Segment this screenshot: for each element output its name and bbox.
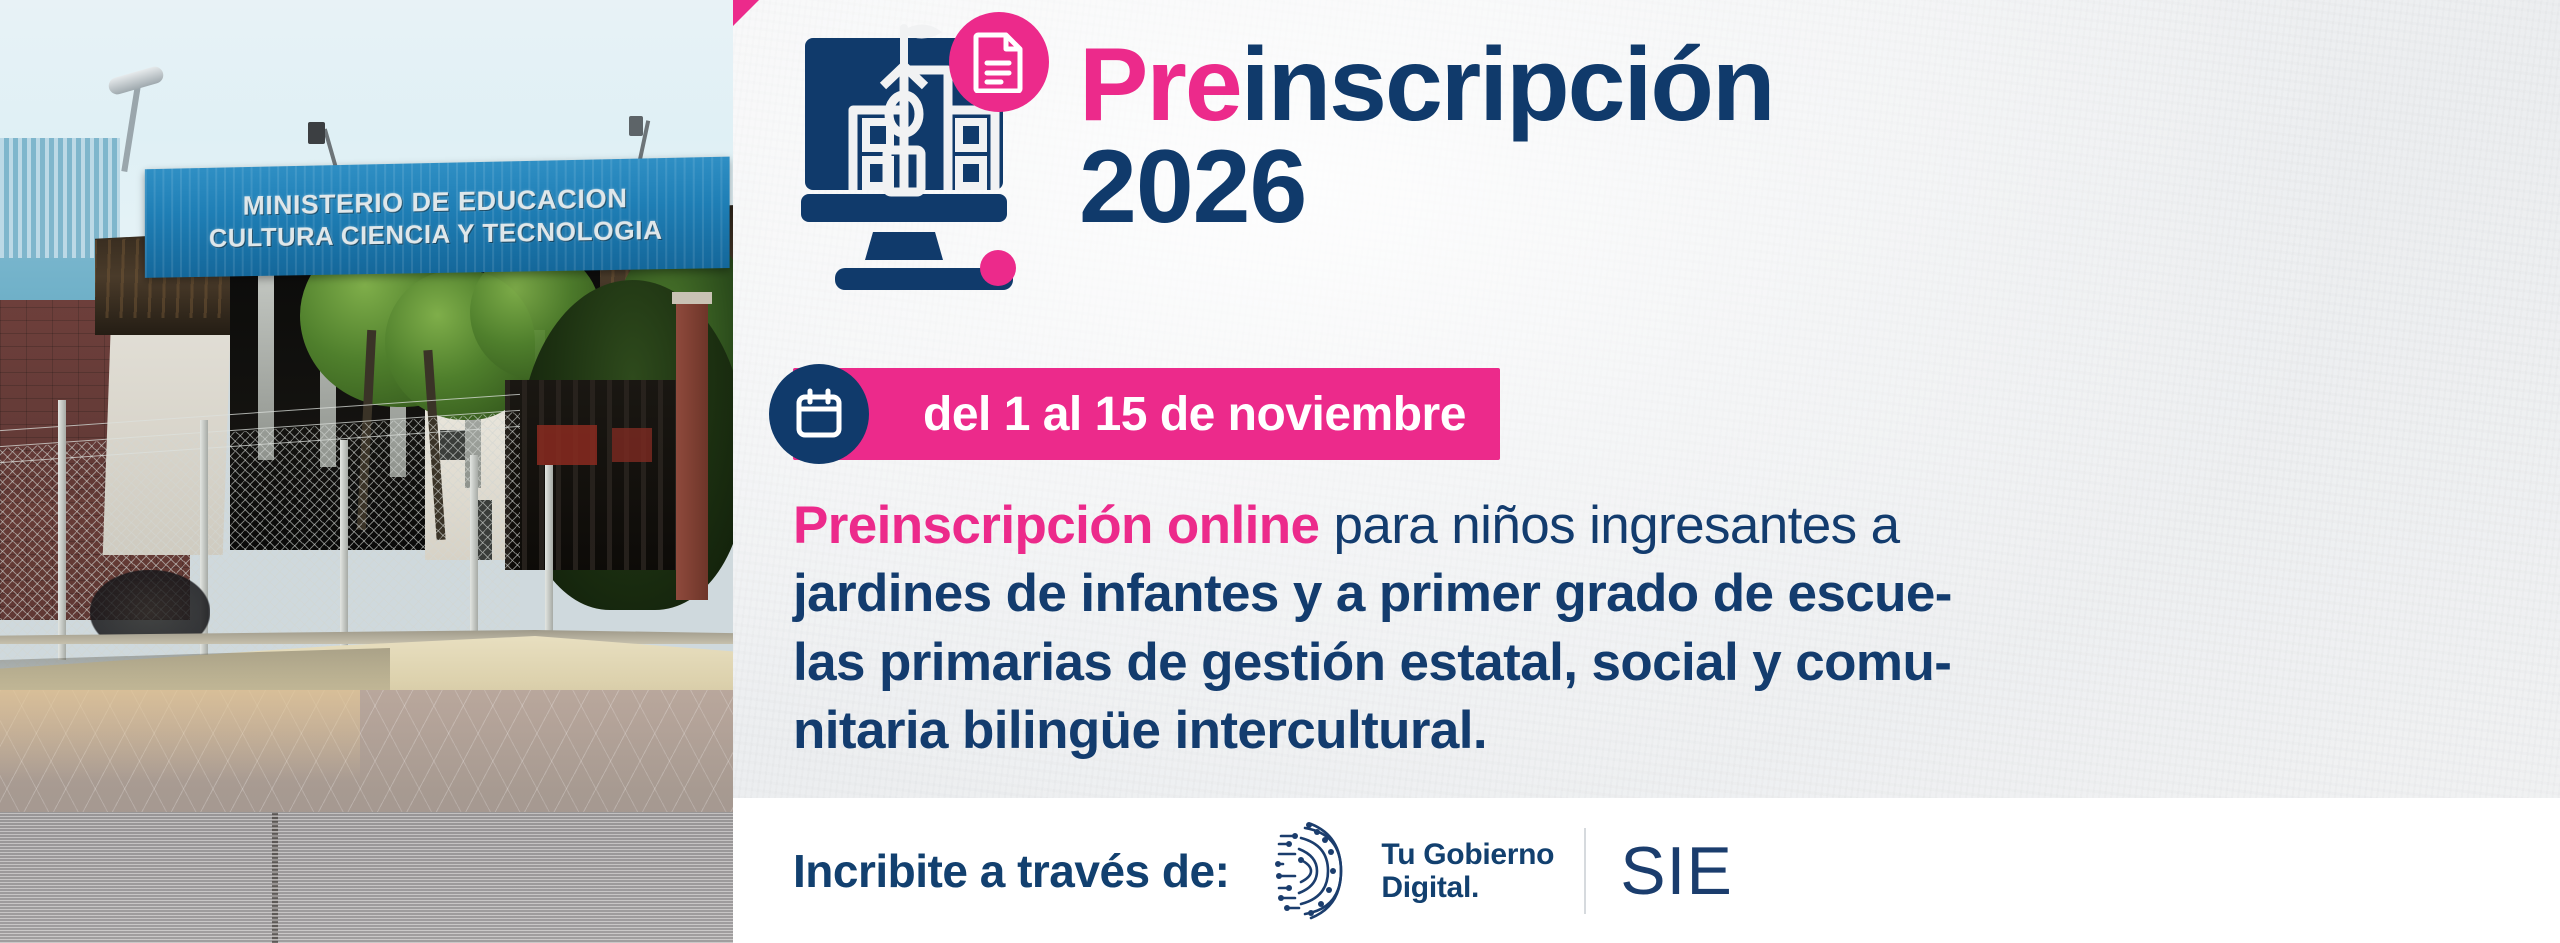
motorcycle [90, 570, 210, 640]
title-year: 2026 [1079, 135, 1773, 239]
pillar-cap [672, 292, 712, 304]
gate-red-panel [612, 428, 652, 462]
tu-gobierno-digital-wordmark: Tu Gobierno Digital. [1381, 838, 1554, 904]
fence-post [58, 400, 66, 660]
paving-sunlight [0, 690, 360, 780]
calendar-badge [769, 364, 869, 464]
logo-line-2: Digital. [1381, 871, 1554, 904]
ministry-sign: MINISTERIO DE EDUCACION CULTURA CIENCIA … [145, 157, 730, 278]
body-copy: Preinscripción online para niños ingresa… [793, 492, 2353, 765]
tu-gobierno-digital-logo[interactable]: Tu Gobierno Digital. [1271, 816, 1554, 926]
title-pre: Pre [1079, 27, 1241, 143]
pink-corner-accent [733, 0, 759, 26]
body-line-1-rest: para niños ingresantes a [1319, 496, 1899, 555]
preinscripcion-poster: MINISTERIO DE EDUCACION CULTURA CIENCIA … [0, 0, 2560, 943]
title-rest: inscripción [1241, 27, 1774, 143]
body-line-4: nitaria bilingüe intercultural. [793, 701, 1487, 760]
scanline-artifact [0, 812, 733, 943]
date-banner-text: del 1 al 15 de noviembre [923, 387, 1466, 442]
announcement-panel: Preinscripción 2026 del 1 al 15 de novie… [733, 0, 2560, 943]
body-line-2: jardines de infantes y a primer grado de… [793, 564, 1952, 623]
date-banner: del 1 al 15 de noviembre [793, 368, 1500, 460]
footer-divider [1584, 828, 1586, 914]
school-monitor-icon [793, 10, 1043, 295]
hero-row: Preinscripción 2026 [793, 10, 2533, 310]
sign-line-1: MINISTERIO DE EDUCACION [243, 184, 628, 220]
flood-lamp-head [629, 116, 643, 136]
calendar-icon [795, 388, 843, 440]
body-highlight: Preinscripción online [793, 496, 1319, 555]
fence-post [340, 440, 348, 680]
date-banner-row: del 1 al 15 de noviembre [793, 368, 1500, 460]
network-logo-icon [1271, 816, 1367, 926]
document-badge [949, 12, 1049, 112]
brick-pillar [676, 300, 708, 600]
footer-cta-text: Incribite a través de: [793, 844, 1229, 898]
logo-line-1: Tu Gobierno [1381, 838, 1554, 871]
scanline-streak [272, 812, 278, 943]
gate-bars [505, 380, 690, 570]
sign-line-2: CULTURA CIENCIA Y TECNOLOGIA [209, 216, 663, 252]
body-line-3: las primarias de gestión estatal, social… [793, 633, 1951, 692]
flood-lamp-head [308, 122, 325, 144]
title-block: Preinscripción 2026 [1079, 10, 1773, 239]
sie-logo[interactable]: SIE [1620, 832, 1733, 910]
ministry-entrance-photo: MINISTERIO DE EDUCACION CULTURA CIENCIA … [0, 0, 733, 943]
footer-bar: Incribite a través de: [733, 798, 2560, 943]
document-icon [972, 31, 1026, 93]
gate-red-panel [537, 425, 597, 465]
title-line-1: Preinscripción [1079, 36, 1773, 135]
